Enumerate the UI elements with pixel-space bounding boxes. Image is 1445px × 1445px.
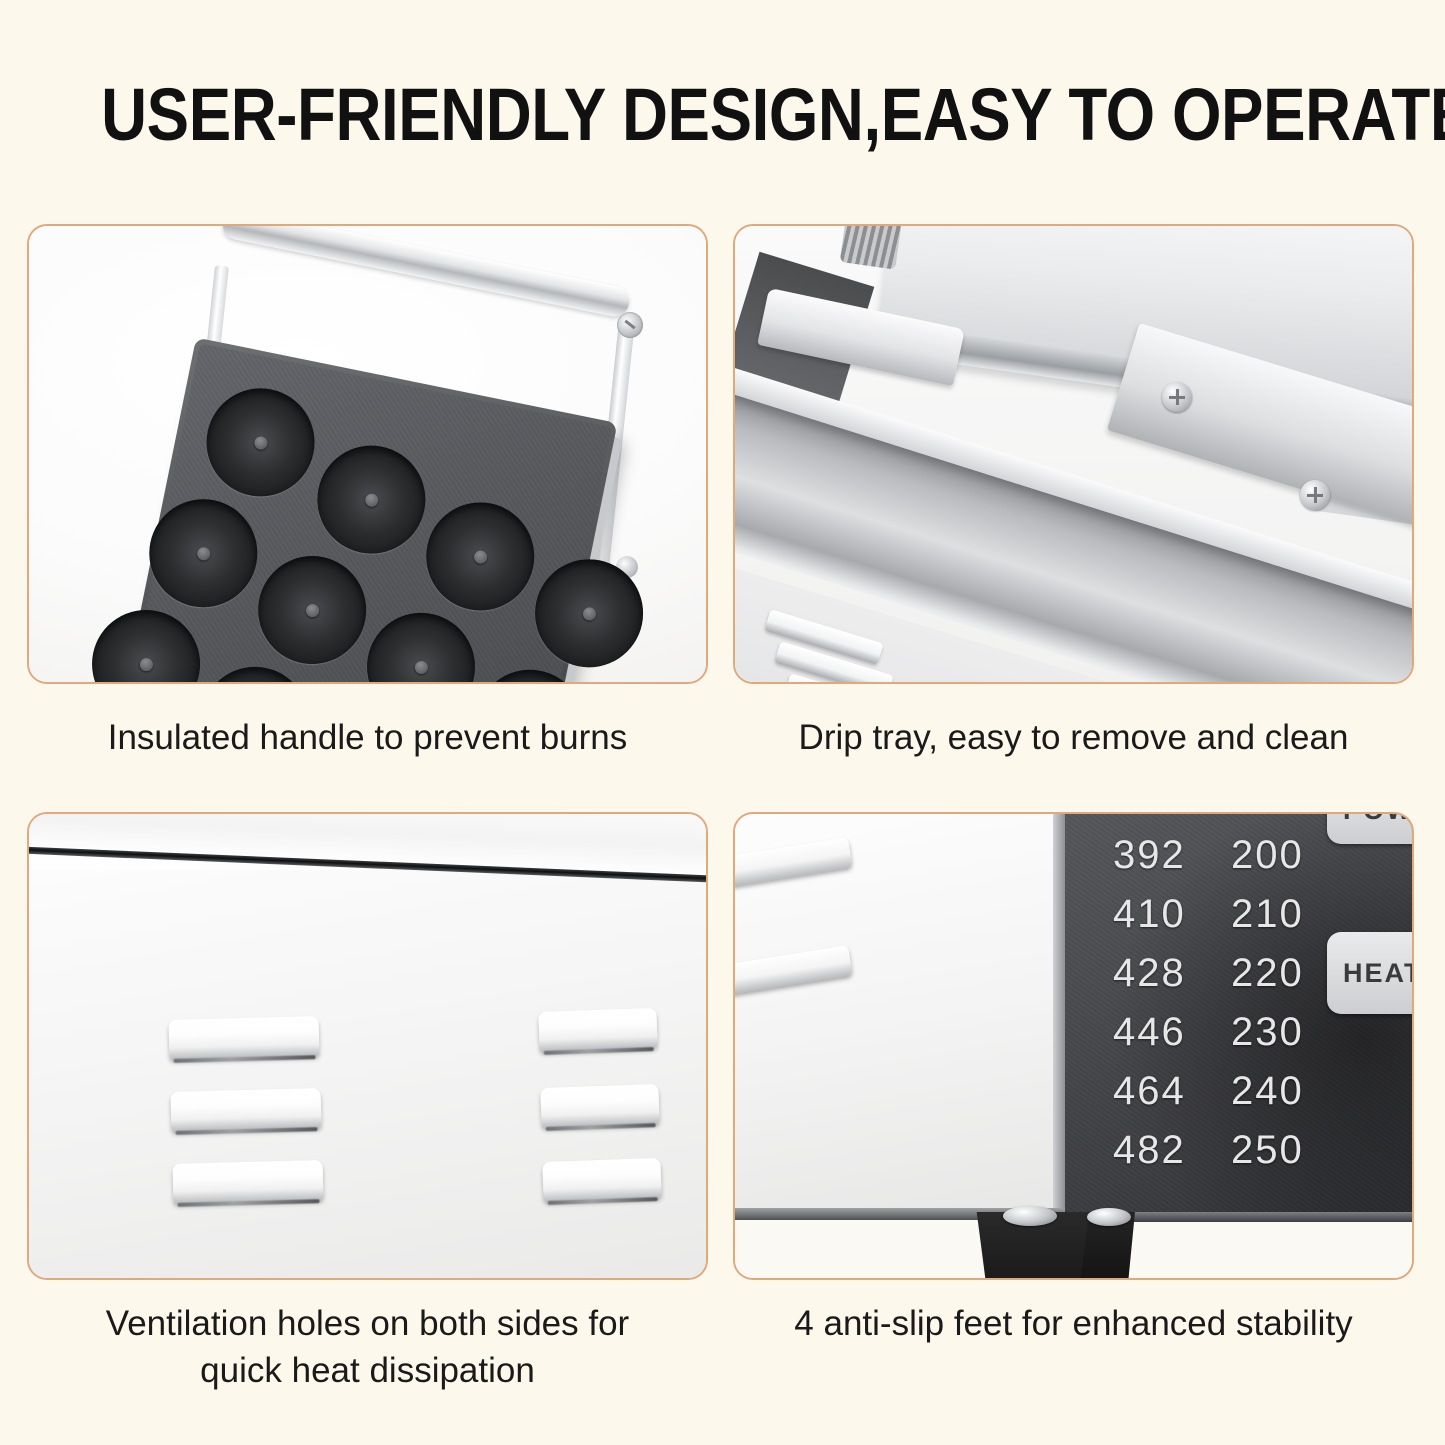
page-title: USER-FRIENDLY DESIGN,EASY TO OPERATE: [101, 72, 1344, 158]
heat-indicator-plate: HEAT: [1327, 932, 1414, 1014]
heat-indicator-label: HEAT: [1343, 958, 1414, 989]
foot-screw-icon: [1087, 1208, 1131, 1226]
donut-mold: [357, 603, 484, 684]
temp-fahrenheit: 392: [1113, 826, 1231, 885]
vent-louver: [538, 1008, 657, 1052]
temp-celsius: 200: [1231, 826, 1323, 885]
photo-drip-tray: [735, 226, 1412, 682]
temp-celsius: 210: [1231, 885, 1323, 944]
control-panel: 392 200 410 210 428 220 446 230: [1065, 814, 1414, 1218]
temperature-scale: 392 200 410 210 428 220 446 230: [1113, 826, 1323, 1180]
caption-ventilation: Ventilation holes on both sides for quic…: [27, 1300, 708, 1394]
photo-anti-slip-feet: 392 200 410 210 428 220 446 230: [735, 814, 1412, 1278]
temp-row: 482 250: [1113, 1121, 1323, 1180]
feature-card-ventilation: [27, 812, 708, 1280]
feature-card-insulated-handle: [27, 224, 708, 684]
donut-baking-plate: [110, 337, 617, 684]
temp-celsius: 250: [1231, 1121, 1323, 1180]
side-panel: [27, 870, 708, 1280]
phillips-screw-icon: [1300, 480, 1330, 510]
temp-celsius: 220: [1231, 944, 1323, 1003]
phillips-screw-icon: [1162, 382, 1192, 412]
donut-mold: [140, 490, 267, 617]
temp-celsius: 240: [1231, 1062, 1323, 1121]
vent-louver: [171, 1088, 322, 1132]
foot-screw-icon: [1003, 1206, 1057, 1226]
temp-fahrenheit: 446: [1113, 1003, 1231, 1062]
caption-anti-slip-feet: 4 anti-slip feet for enhanced stability: [733, 1300, 1414, 1347]
vent-louver: [542, 1158, 661, 1202]
spring-coil: [840, 224, 903, 270]
donut-mold: [248, 546, 375, 673]
handle-pivot-screw-icon: [617, 312, 643, 338]
temp-row: 464 240: [1113, 1062, 1323, 1121]
vent-louver: [173, 1160, 324, 1204]
caption-drip-tray: Drip tray, easy to remove and clean: [733, 714, 1414, 761]
donut-mold: [82, 600, 209, 684]
power-indicator-label: POWER: [1343, 812, 1414, 826]
caption-ventilation-line1: Ventilation holes on both sides for: [27, 1300, 708, 1347]
temp-celsius: 230: [1231, 1003, 1323, 1062]
donut-mold: [308, 436, 435, 563]
temp-fahrenheit: 410: [1113, 885, 1231, 944]
donut-mold: [197, 379, 324, 506]
vent-louver: [540, 1084, 659, 1128]
temp-fahrenheit: 482: [1113, 1121, 1231, 1180]
temp-row: 428 220: [1113, 944, 1323, 1003]
donut-mold: [417, 493, 544, 620]
vent-louver: [169, 1016, 320, 1060]
infographic-page: USER-FRIENDLY DESIGN,EASY TO OPERATE: [0, 0, 1445, 1445]
handle-grip-bar: [220, 224, 632, 319]
temp-fahrenheit: 428: [1113, 944, 1231, 1003]
power-indicator-plate: POWER: [1327, 812, 1414, 844]
temp-row: 446 230: [1113, 1003, 1323, 1062]
feature-card-drip-tray: [733, 224, 1414, 684]
photo-insulated-handle: [29, 226, 706, 682]
temp-row: 392 200: [1113, 826, 1323, 885]
panel-edge: [1053, 814, 1065, 1214]
caption-insulated-handle: Insulated handle to prevent burns: [27, 714, 708, 761]
caption-ventilation-line2: quick heat dissipation: [27, 1347, 708, 1394]
feature-card-anti-slip-feet: 392 200 410 210 428 220 446 230: [733, 812, 1414, 1280]
temp-row: 410 210: [1113, 885, 1323, 944]
photo-ventilation-holes: [29, 814, 706, 1278]
temp-fahrenheit: 464: [1113, 1062, 1231, 1121]
